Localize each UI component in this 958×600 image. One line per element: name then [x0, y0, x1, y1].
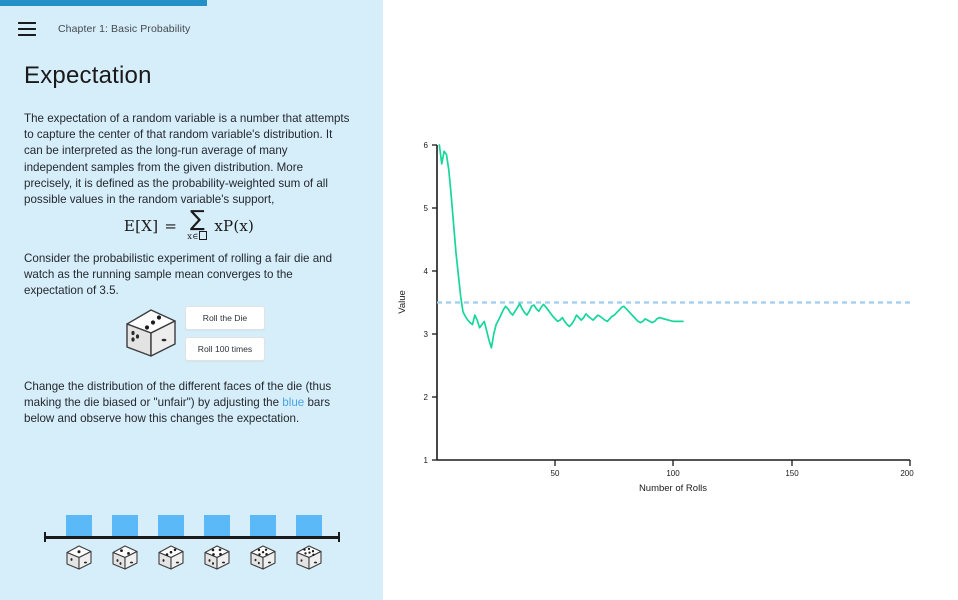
die-illustration-icon: [120, 304, 182, 364]
x-axis-tick-labels: 50 100 150 200: [551, 469, 915, 478]
probability-bar-face-4[interactable]: [204, 515, 230, 536]
experiment-paragraph: Consider the probabilistic experiment of…: [24, 251, 354, 300]
x-axis-label: Number of Rolls: [639, 483, 707, 494]
y-tick-label: 6: [424, 141, 429, 150]
probability-bar-face-5[interactable]: [250, 515, 276, 536]
probability-bar-face-2[interactable]: [112, 515, 138, 536]
hamburger-menu-icon[interactable]: [18, 22, 36, 36]
x-tick-label: 100: [666, 469, 680, 478]
formula-rhs: xP(x): [214, 217, 254, 235]
formula-lhs: E[X]: [124, 217, 159, 235]
die-face-4-icon: [202, 543, 232, 573]
sidebar-topbar: Chapter 1: Basic Probability: [0, 18, 383, 44]
roll-controls: Roll the Die Roll 100 times: [120, 300, 360, 370]
running-mean-chart: 6 5 4 3 2 1 Value 50 100 150 200 Number …: [383, 0, 958, 600]
x-tick-label: 200: [900, 469, 914, 478]
widget-baseline-axis: [44, 536, 340, 539]
running-mean-chart-panel: 6 5 4 3 2 1 Value 50 100 150 200 Number …: [383, 0, 958, 600]
chapter-breadcrumb[interactable]: Chapter 1: Basic Probability: [58, 23, 190, 35]
formula-sum-subscript: x∈: [187, 231, 207, 242]
blue-link[interactable]: blue: [282, 396, 304, 409]
lesson-sidebar-panel: Chapter 1: Basic Probability Expectation…: [0, 0, 383, 600]
distribution-paragraph: Change the distribution of the different…: [24, 379, 354, 428]
face-probability-widget: [44, 503, 340, 583]
x-tick-label: 150: [785, 469, 799, 478]
expectation-formula: E[X] = ∑ x∈ xP(x): [24, 210, 354, 242]
y-tick-label: 5: [424, 204, 429, 213]
sigma-icon: ∑: [190, 210, 205, 230]
probability-bar-face-1[interactable]: [66, 515, 92, 536]
die-face-3-icon: [156, 543, 186, 573]
die-face-2-icon: [110, 543, 140, 573]
running-mean-series-line: [439, 145, 683, 348]
x-axis-ticks: [555, 460, 910, 466]
formula-summation: ∑ x∈: [187, 210, 207, 242]
x-tick-label: 50: [551, 469, 560, 478]
die-face-5-icon: [248, 543, 278, 573]
lesson-progress-bar: [0, 0, 383, 6]
die-face-6-icon: [294, 543, 324, 573]
hamburger-bar: [18, 22, 36, 24]
missing-glyph-box-icon: [199, 231, 207, 240]
intro-paragraph: The expectation of a random variable is …: [24, 111, 354, 208]
y-axis-tick-labels: 6 5 4 3 2 1: [424, 141, 429, 465]
y-tick-label: 1: [424, 456, 429, 465]
probability-bar-face-3[interactable]: [158, 515, 184, 536]
y-tick-label: 3: [424, 330, 429, 339]
roll-100-times-button[interactable]: Roll 100 times: [185, 337, 265, 361]
page-title: Expectation: [24, 62, 152, 90]
y-tick-label: 2: [424, 393, 429, 402]
formula-equals: =: [164, 217, 177, 235]
y-axis-label: Value: [397, 290, 408, 314]
y-tick-label: 4: [424, 267, 429, 276]
probability-bar-face-6[interactable]: [296, 515, 322, 536]
hamburger-bar: [18, 28, 36, 30]
lesson-progress-fill: [0, 0, 207, 6]
die-face-1-icon: [64, 543, 94, 573]
hamburger-bar: [18, 34, 36, 36]
roll-the-die-button[interactable]: Roll the Die: [185, 306, 265, 330]
